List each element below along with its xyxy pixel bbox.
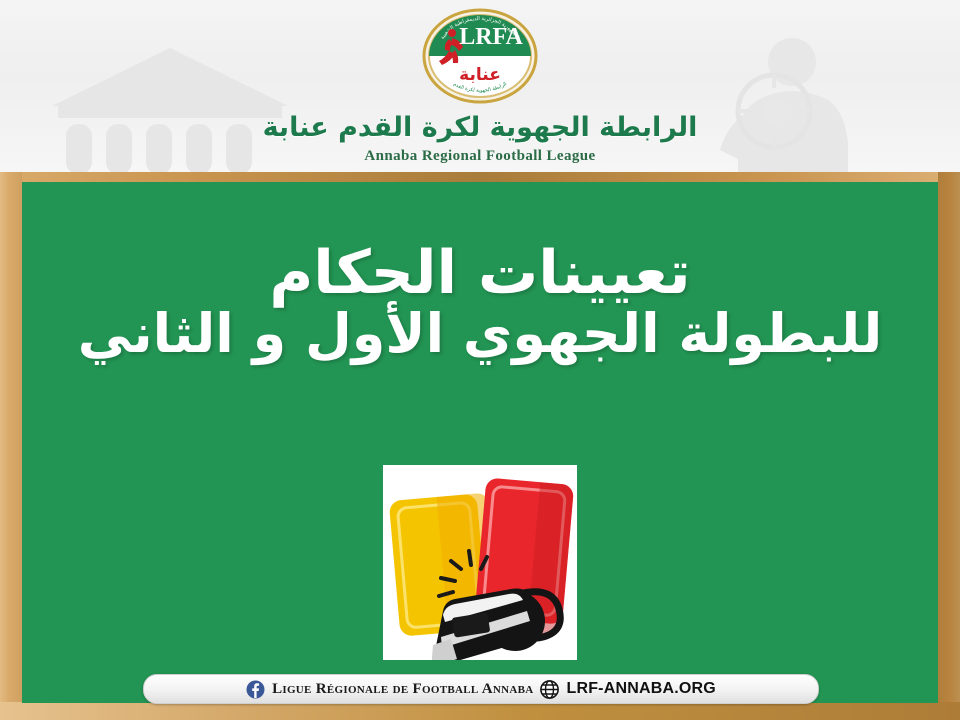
facebook-icon[interactable] [246, 680, 265, 699]
header-title-arabic: الرابطة الجهوية لكرة القدم عنابة [0, 112, 960, 143]
header-title-english: Annaba Regional Football League [0, 148, 960, 165]
frame-top-border [0, 172, 960, 182]
logo-city: عنابة [459, 65, 501, 85]
title-line-1: تعيينات الحكام [22, 240, 938, 307]
footer-website[interactable]: LRF-ANNABA.ORG [566, 680, 715, 698]
footer-banner[interactable]: Ligue Régionale de Football Annaba LRF-A… [143, 674, 819, 704]
frame-bottom-border [0, 702, 960, 720]
poster-header: الجمهورية الجزائرية الديمقراطية الشعبية … [0, 0, 960, 172]
lrfa-logo: الجمهورية الجزائرية الديمقراطية الشعبية … [422, 8, 538, 104]
poster-title-block: تعيينات الحكام للبطولة الجهوي الأول و ال… [22, 240, 938, 365]
frame-right-border [938, 172, 960, 720]
frame-left-border [0, 172, 22, 720]
poster-root: الجمهورية الجزائرية الديمقراطية الشعبية … [0, 0, 960, 720]
globe-icon[interactable] [540, 680, 559, 699]
logo-acronym: LRFA [459, 24, 523, 50]
title-line-2: للبطولة الجهوي الأول و الثاني [22, 303, 938, 365]
footer-league-name: Ligue Régionale de Football Annaba [272, 681, 533, 698]
referee-cards-whistle-image [383, 465, 577, 660]
